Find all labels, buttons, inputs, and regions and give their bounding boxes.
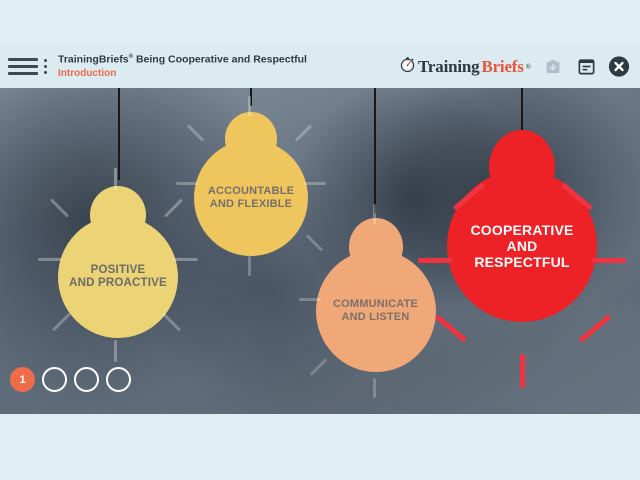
- bulb-globe: COOPERATIVE AND RESPECTFUL: [447, 170, 597, 322]
- bulb-label-line1: COMMUNICATE: [333, 298, 418, 311]
- bulb-cord-4: [521, 88, 523, 133]
- bulb-globe: ACCOUNTABLE AND FLEXIBLE: [194, 140, 308, 256]
- bulb-globe: POSITIVE AND PROACTIVE: [58, 216, 178, 338]
- pagination-dot-2[interactable]: [42, 367, 67, 392]
- bulb-cord-1: [118, 88, 120, 180]
- page-subtitle: Introduction: [58, 68, 307, 79]
- stopwatch-icon: [399, 56, 416, 78]
- pagination-dot-3[interactable]: [74, 367, 99, 392]
- bulb-globe: COMMUNICATE AND LISTEN: [316, 250, 436, 372]
- bulb-cord-3: [374, 88, 376, 213]
- bulb-communicate-and-listen[interactable]: COMMUNICATE AND LISTEN: [303, 206, 448, 404]
- page-title: TrainingBriefs® Being Cooperative and Re…: [58, 54, 307, 66]
- header-actions: TrainingBriefs®: [399, 56, 630, 78]
- bulb-label-line2: AND LISTEN: [333, 311, 418, 324]
- bulb-label-line1: ACCOUNTABLE: [208, 185, 294, 198]
- bulb-label-line1: POSITIVE: [69, 264, 167, 277]
- bulb-label-line2: AND FLEXIBLE: [208, 198, 294, 211]
- logo-text-briefs: Briefs: [481, 57, 523, 77]
- slide-canvas: POSITIVE AND PROACTIVE ACCOUNTABLE AND F…: [0, 88, 640, 414]
- notes-icon[interactable]: [575, 56, 597, 78]
- download-icon[interactable]: [542, 56, 564, 78]
- pagination: 1: [10, 367, 131, 392]
- page-title-rest: Being Cooperative and Respectful: [133, 54, 307, 66]
- pagination-dot-1[interactable]: 1: [10, 367, 35, 392]
- hamburger-menu-icon[interactable]: [8, 54, 38, 80]
- close-icon[interactable]: [608, 56, 630, 78]
- header-titles: TrainingBriefs® Being Cooperative and Re…: [58, 54, 307, 78]
- page-title-brand: TrainingBriefs: [58, 54, 129, 66]
- bulb-label-line1: COOPERATIVE: [470, 222, 573, 238]
- logo-text-training: Training: [418, 57, 479, 77]
- bulb-label-line2: AND: [470, 238, 573, 254]
- bulb-label-line3: RESPECTFUL: [470, 254, 573, 270]
- more-options-icon[interactable]: [39, 54, 51, 80]
- bulb-label-line2: AND PROACTIVE: [69, 277, 167, 290]
- player-header: TrainingBriefs® Being Cooperative and Re…: [0, 45, 640, 88]
- bulb-positive-and-proactive[interactable]: POSITIVE AND PROACTIVE: [44, 172, 192, 372]
- bulb-accountable-and-flexible[interactable]: ACCOUNTABLE AND FLEXIBLE: [182, 98, 320, 284]
- bulb-cooperative-and-respectful[interactable]: COOPERATIVE AND RESPECTFUL: [434, 130, 610, 392]
- course-player: TrainingBriefs® Being Cooperative and Re…: [0, 0, 640, 480]
- pagination-dot-4[interactable]: [106, 367, 131, 392]
- logo-registered-mark: ®: [526, 63, 531, 71]
- trainingbriefs-logo: TrainingBriefs®: [399, 56, 531, 78]
